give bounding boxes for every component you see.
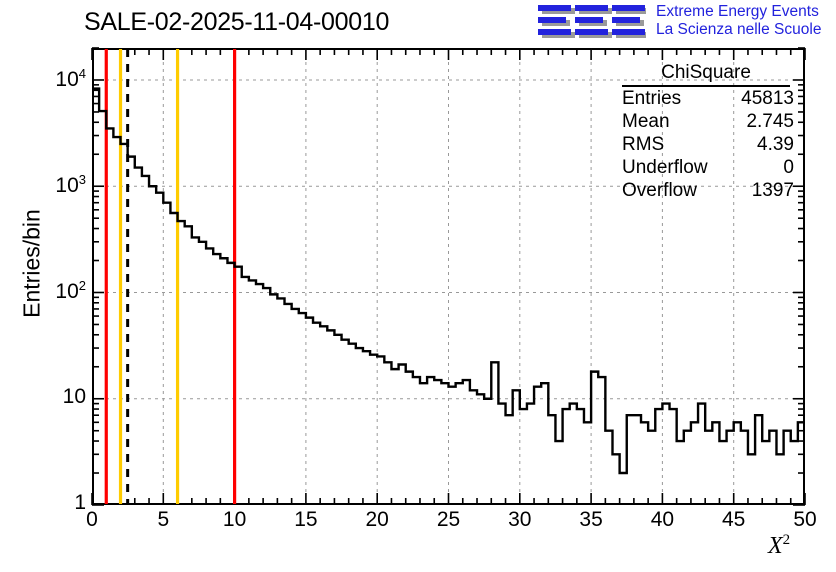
stats-row-key: Overflow bbox=[622, 180, 697, 202]
stats-row-key: Entries bbox=[622, 88, 681, 110]
stats-row: Entries45813 bbox=[622, 87, 794, 110]
x-tick-label: 40 bbox=[651, 508, 674, 532]
y-tick-label-exponent: 4 bbox=[79, 66, 86, 81]
plot-canvas: SALE-02-2025-11-04-00010 Extreme Energy … bbox=[0, 0, 836, 572]
stats-row-key: Underflow bbox=[622, 157, 708, 179]
stats-row-value: 4.39 bbox=[757, 134, 794, 156]
x-tick-label: 10 bbox=[223, 508, 246, 532]
stats-box: ChiSquare Entries45813Mean2.745RMS4.39Un… bbox=[616, 62, 806, 202]
y-tick-label: 10 bbox=[63, 385, 86, 409]
stats-row-value: 45813 bbox=[741, 88, 794, 110]
x-tick-label: 25 bbox=[437, 508, 460, 532]
stats-row: RMS4.39 bbox=[622, 133, 794, 156]
stats-row: Underflow0 bbox=[622, 156, 794, 179]
y-tick-label: 102 bbox=[55, 278, 86, 304]
x-tick-label: 0 bbox=[86, 508, 98, 532]
x-tick-label: 30 bbox=[508, 508, 531, 532]
y-tick-label-base: 10 bbox=[55, 174, 78, 197]
y-tick-label-base: 1 bbox=[74, 491, 86, 514]
y-tick-label-base: 10 bbox=[55, 68, 78, 91]
x-tick-label: 50 bbox=[793, 508, 816, 532]
y-tick-label: 103 bbox=[55, 172, 86, 198]
marker-lines bbox=[106, 49, 234, 504]
stats-row-key: RMS bbox=[622, 134, 664, 156]
y-tick-label-base: 10 bbox=[63, 385, 86, 408]
y-tick-label-exponent: 2 bbox=[79, 278, 86, 293]
stats-row-value: 1397 bbox=[752, 180, 794, 202]
x-tick-label: 45 bbox=[722, 508, 745, 532]
y-tick-label-base: 10 bbox=[55, 280, 78, 303]
y-tick-label: 104 bbox=[55, 66, 86, 92]
stats-row-key: Mean bbox=[622, 111, 670, 133]
stats-rows: Entries45813Mean2.745RMS4.39Underflow0Ov… bbox=[616, 87, 806, 202]
stats-row: Overflow1397 bbox=[622, 179, 794, 202]
x-tick-label: 5 bbox=[157, 508, 169, 532]
stats-row-value: 0 bbox=[783, 157, 794, 179]
stats-title: ChiSquare bbox=[622, 62, 790, 87]
y-tick-labels: 110102103104 bbox=[0, 0, 86, 572]
x-tick-label: 15 bbox=[294, 508, 317, 532]
y-tick-label: 1 bbox=[74, 491, 86, 515]
stats-row-value: 2.745 bbox=[746, 111, 794, 133]
x-tick-label: 20 bbox=[366, 508, 389, 532]
stats-row: Mean2.745 bbox=[622, 110, 794, 133]
y-tick-label-exponent: 3 bbox=[79, 172, 86, 187]
x-tick-label: 35 bbox=[579, 508, 602, 532]
